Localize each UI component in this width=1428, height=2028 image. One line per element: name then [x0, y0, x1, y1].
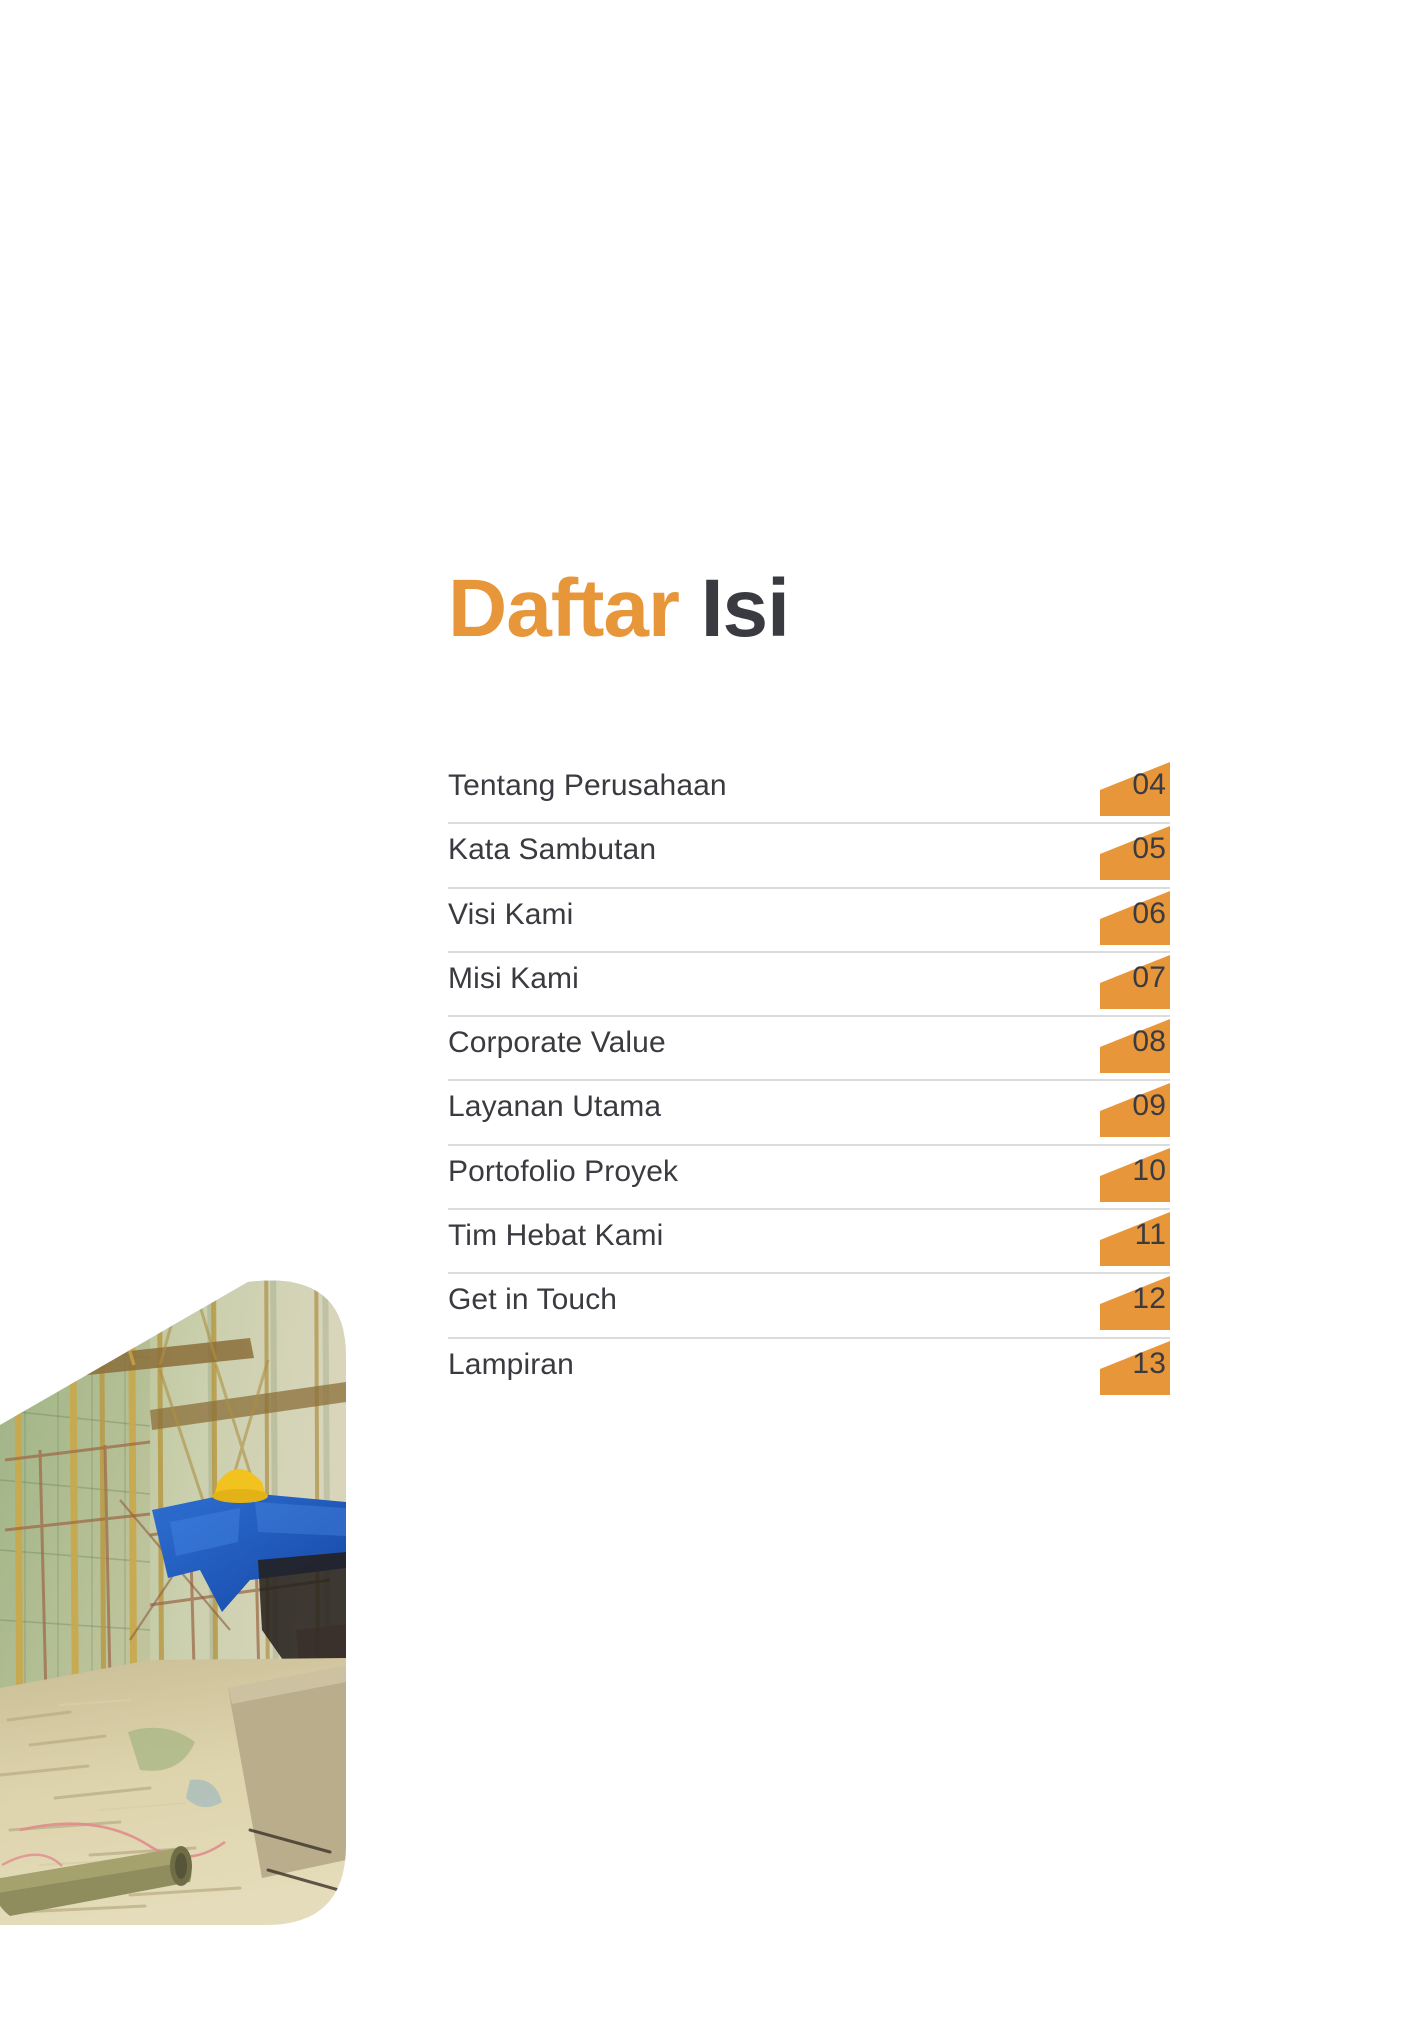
- toc-page-number-badge: 12: [1100, 1274, 1170, 1330]
- toc-page-number-badge: 07: [1100, 953, 1170, 1009]
- toc-entry-page-number: 12: [1100, 1282, 1166, 1316]
- toc-row[interactable]: Tim Hebat Kami11: [448, 1210, 1170, 1274]
- toc-row[interactable]: Layanan Utama09: [448, 1081, 1170, 1145]
- toc-page-number-badge: 13: [1100, 1339, 1170, 1395]
- toc-entry-label: Lampiran: [448, 1348, 574, 1382]
- construction-photo-illustration: [0, 630, 346, 1925]
- toc-entry-label: Get in Touch: [448, 1283, 617, 1317]
- toc-row[interactable]: Portofolio Proyek10: [448, 1146, 1170, 1210]
- toc-entry-page-number: 05: [1100, 832, 1166, 866]
- toc-page-number-badge: 11: [1100, 1210, 1170, 1266]
- toc-page-number-badge: 04: [1100, 760, 1170, 816]
- toc-row[interactable]: Get in Touch12: [448, 1274, 1170, 1338]
- table-of-contents-list: Tentang Perusahaan04Kata Sambutan05Visi …: [448, 760, 1170, 1403]
- toc-entry-label: Kata Sambutan: [448, 833, 656, 867]
- toc-entry-page-number: 08: [1100, 1025, 1166, 1059]
- toc-entry-page-number: 06: [1100, 897, 1166, 931]
- toc-entry-page-number: 04: [1100, 768, 1166, 802]
- toc-entry-label: Layanan Utama: [448, 1090, 661, 1124]
- toc-entry-page-number: 11: [1100, 1218, 1166, 1252]
- toc-entry-label: Misi Kami: [448, 962, 579, 996]
- toc-row[interactable]: Visi Kami06: [448, 889, 1170, 953]
- toc-page-number-badge: 09: [1100, 1081, 1170, 1137]
- toc-page-number-badge: 06: [1100, 889, 1170, 945]
- toc-entry-label: Tim Hebat Kami: [448, 1219, 663, 1253]
- toc-entry-page-number: 09: [1100, 1089, 1166, 1123]
- toc-entry-page-number: 07: [1100, 961, 1166, 995]
- toc-row[interactable]: Corporate Value08: [448, 1017, 1170, 1081]
- toc-entry-page-number: 10: [1100, 1154, 1166, 1188]
- toc-entry-label: Corporate Value: [448, 1026, 666, 1060]
- toc-row[interactable]: Tentang Perusahaan04: [448, 760, 1170, 824]
- toc-row[interactable]: Misi Kami07: [448, 953, 1170, 1017]
- toc-page: Daftar Isi Tentang Perusahaan04Kata Samb…: [0, 0, 1428, 2028]
- toc-page-number-badge: 08: [1100, 1017, 1170, 1073]
- construction-site-photo: [0, 630, 346, 1925]
- toc-page-number-badge: 05: [1100, 824, 1170, 880]
- page-title: Daftar Isi: [448, 568, 789, 650]
- toc-entry-label: Visi Kami: [448, 898, 573, 932]
- toc-row[interactable]: Kata Sambutan05: [448, 824, 1170, 888]
- toc-row[interactable]: Lampiran13: [448, 1339, 1170, 1403]
- page-title-rest: Isi: [701, 563, 789, 654]
- page-title-accent: Daftar: [448, 563, 679, 654]
- toc-entry-label: Portofolio Proyek: [448, 1155, 678, 1189]
- toc-entry-page-number: 13: [1100, 1347, 1166, 1381]
- toc-page-number-badge: 10: [1100, 1146, 1170, 1202]
- toc-entry-label: Tentang Perusahaan: [448, 769, 727, 803]
